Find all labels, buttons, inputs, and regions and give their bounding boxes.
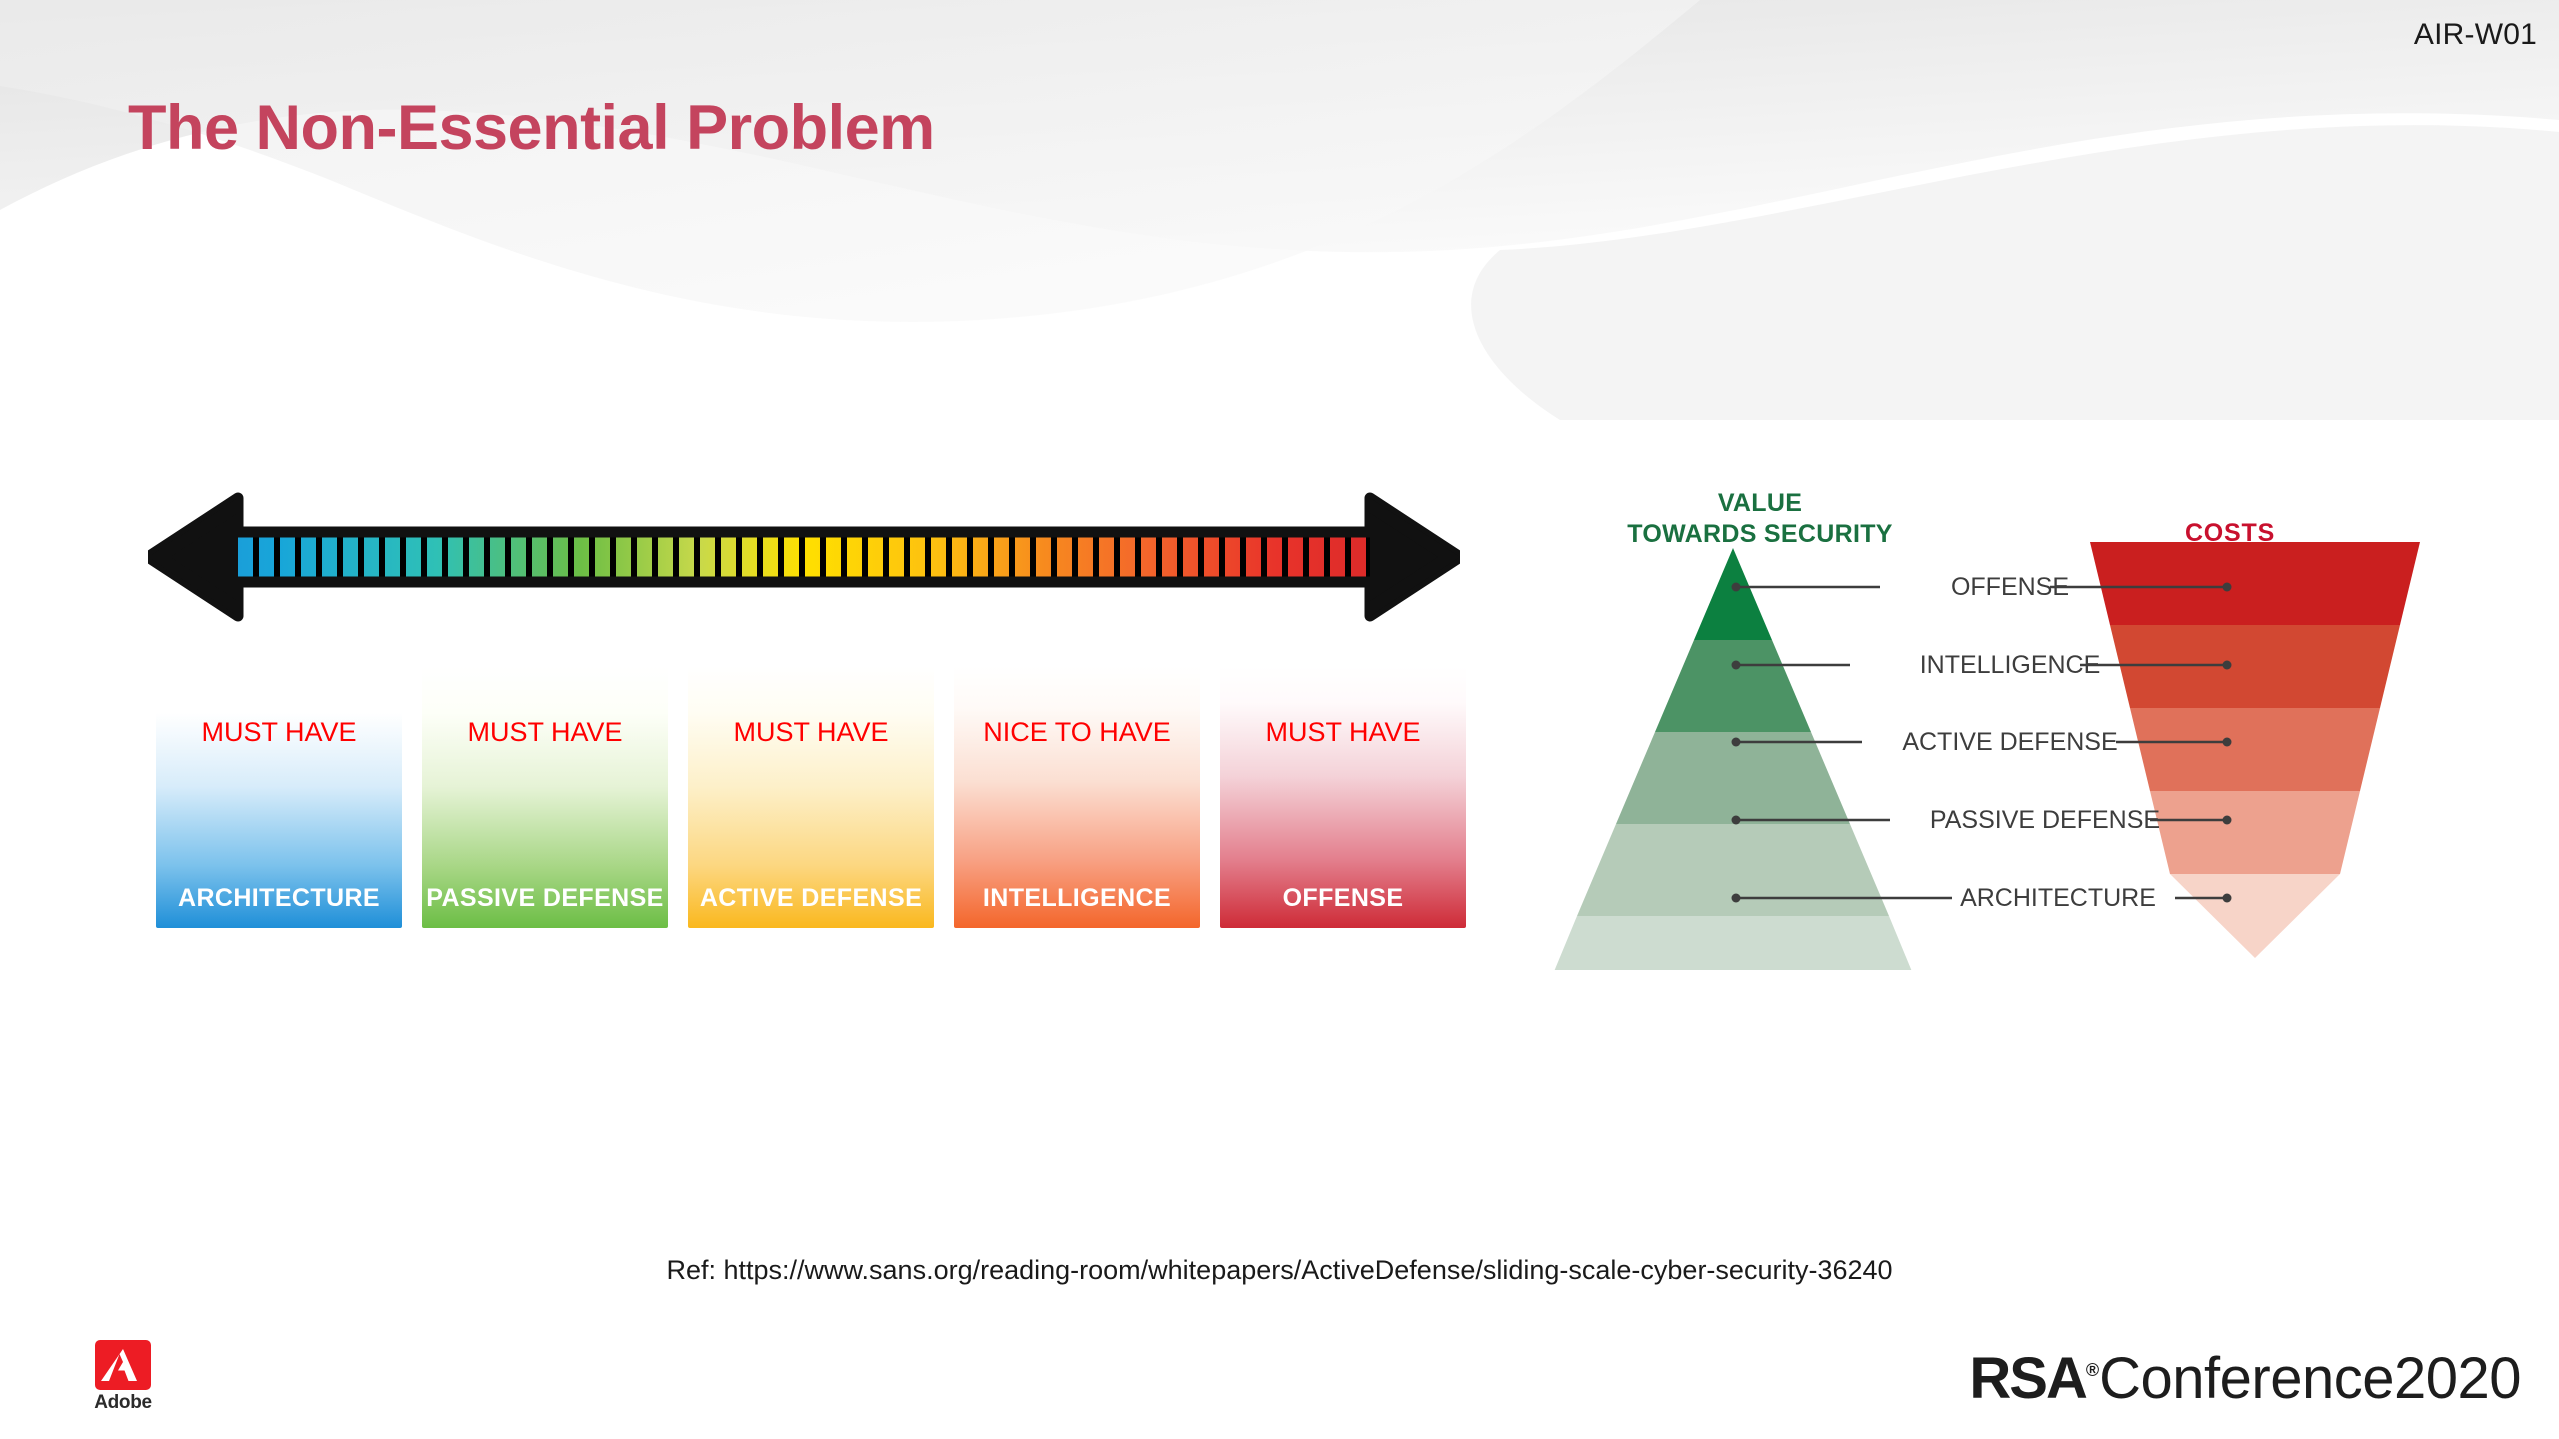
pyramid-row-label-architecture: ARCHITECTURE xyxy=(1915,884,2201,913)
scale-box-need-label: MUST HAVE xyxy=(422,714,668,750)
scale-box-need-label: NICE TO HAVE xyxy=(954,714,1200,750)
pyramid-row-label-offense: OFFENSE xyxy=(1878,573,2142,602)
background-wave-decoration xyxy=(0,0,2559,420)
scale-box-category-label: PASSIVE DEFENSE xyxy=(422,883,668,914)
scale-box-need-label: MUST HAVE xyxy=(156,714,402,750)
adobe-a-icon xyxy=(95,1340,151,1390)
sliding-scale-gradient-arrow xyxy=(148,486,1460,628)
scale-box-need-label: MUST HAVE xyxy=(1220,714,1466,750)
reference-link[interactable]: Ref: https://www.sans.org/reading-room/w… xyxy=(0,1255,2559,1286)
scale-box-category-label: ARCHITECTURE xyxy=(156,883,402,914)
scale-box-need-label: MUST HAVE xyxy=(688,714,934,750)
rsa-conference-text: Conference2020 xyxy=(2099,1346,2521,1411)
page-title: The Non-Essential Problem xyxy=(128,92,935,164)
rsa-brand-text: RSA xyxy=(1969,1346,2085,1411)
slide-code: AIR-W01 xyxy=(2414,18,2537,52)
pyramid-row-label-intelligence: INTELLIGENCE xyxy=(1848,651,2172,680)
adobe-wordmark: Adobe xyxy=(78,1392,168,1414)
pyramid-row-label-active-defense: ACTIVE DEFENSE xyxy=(1862,728,2158,757)
green-value-pyramid xyxy=(1553,548,1913,970)
scale-box-active-defense[interactable]: MUST HAVE ACTIVE DEFENSE xyxy=(688,666,934,928)
rsa-conference-logo: RSA®Conference2020 xyxy=(1969,1338,2521,1411)
adobe-logo: Adobe xyxy=(78,1340,168,1416)
scale-box-offense[interactable]: MUST HAVE OFFENSE xyxy=(1220,666,1466,928)
scale-box-architecture[interactable]: MUST HAVE ARCHITECTURE xyxy=(156,666,402,928)
sliding-scale-box-row: MUST HAVE ARCHITECTURE MUST HAVE PASSIVE… xyxy=(156,666,1466,928)
scale-box-category-label: ACTIVE DEFENSE xyxy=(688,883,934,914)
adobe-a-glyph xyxy=(95,1340,151,1390)
scale-box-intelligence[interactable]: NICE TO HAVE INTELLIGENCE xyxy=(954,666,1200,928)
scale-box-category-label: INTELLIGENCE xyxy=(954,883,1200,914)
scale-box-passive-defense[interactable]: MUST HAVE PASSIVE DEFENSE xyxy=(422,666,668,928)
scale-box-category-label: OFFENSE xyxy=(1220,883,1466,914)
registered-trademark-icon: ® xyxy=(2086,1360,2099,1380)
pyramid-row-label-passive-defense: PASSIVE DEFENSE xyxy=(1890,806,2200,835)
